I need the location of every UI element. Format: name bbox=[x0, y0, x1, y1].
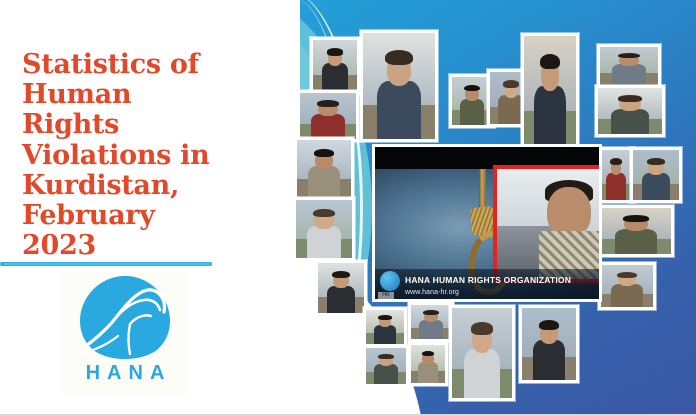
portrait-man-closeup-smile[interactable] bbox=[411, 305, 451, 339]
watermark-organization-name: HANA HUMAN RIGHTS ORGANIZATION bbox=[405, 275, 571, 285]
photo-person-hair bbox=[423, 310, 438, 315]
inset-person-face bbox=[547, 187, 591, 238]
portrait-man-headscarf[interactable] bbox=[366, 310, 404, 344]
photo-person-torso bbox=[374, 325, 397, 344]
photo-person-hair bbox=[317, 100, 338, 106]
portrait-man-scarf[interactable] bbox=[318, 263, 364, 313]
photo-person-hair bbox=[471, 322, 494, 335]
poster-canvas: HR HANA HUMAN RIGHTS ORGANIZATION www.ha… bbox=[0, 0, 696, 416]
portrait-man-pink-bg[interactable] bbox=[452, 77, 492, 125]
photo-person-torso bbox=[642, 173, 670, 201]
portrait-young-man[interactable] bbox=[411, 345, 445, 383]
photo-person-torso bbox=[611, 109, 649, 134]
photo-person-torso bbox=[460, 99, 484, 125]
photo-person-hair bbox=[618, 53, 640, 58]
globe-icon bbox=[380, 271, 400, 291]
photo-person-torso bbox=[534, 86, 565, 147]
photo-person-hair bbox=[378, 354, 393, 359]
portrait-man-blue-cap[interactable] bbox=[313, 40, 357, 92]
portrait-man-traditional-1[interactable] bbox=[600, 150, 632, 200]
photo-person-hair bbox=[539, 320, 560, 330]
photo-person-torso bbox=[615, 229, 657, 254]
photo-person-torso bbox=[374, 364, 398, 384]
photo-person-hair bbox=[378, 315, 392, 320]
photo-person-hair bbox=[617, 272, 637, 278]
photo-person-torso bbox=[311, 114, 345, 139]
photo-person-hair bbox=[610, 158, 622, 165]
photo-person-hair bbox=[647, 158, 664, 165]
photo-person-torso bbox=[606, 173, 625, 201]
photo-person-hair bbox=[503, 80, 519, 87]
victim-portrait-inset[interactable] bbox=[493, 165, 599, 283]
portrait-man-moustache[interactable] bbox=[300, 93, 356, 139]
photo-person-hair bbox=[327, 48, 344, 55]
hana-logo[interactable]: HANA bbox=[62, 272, 188, 394]
portrait-man-grey-suit[interactable] bbox=[297, 140, 351, 198]
portrait-snow-mountain[interactable] bbox=[522, 308, 576, 380]
portrait-man-red-shirt[interactable] bbox=[296, 200, 352, 258]
photo-person-torso bbox=[377, 81, 420, 139]
photo-person-torso bbox=[533, 340, 565, 380]
photo-person-torso bbox=[418, 362, 438, 383]
title-underline-rule bbox=[0, 262, 212, 266]
photo-person-torso bbox=[327, 286, 355, 314]
portrait-two-men-indoor[interactable] bbox=[600, 47, 658, 85]
photo-person-hair bbox=[618, 95, 642, 101]
photo-person-hair bbox=[464, 85, 479, 92]
portrait-two-men-hillside[interactable] bbox=[601, 208, 671, 254]
hana-dove-logo-icon bbox=[78, 274, 172, 362]
portrait-elder-man-standing[interactable] bbox=[452, 308, 512, 398]
photo-person-torso bbox=[612, 64, 647, 85]
photo-person-torso bbox=[322, 63, 348, 92]
title-panel: Statistics ofHumanRightsViolations inKur… bbox=[0, 0, 300, 416]
hana-wordmark: HANA bbox=[62, 362, 188, 385]
photo-person-hair bbox=[314, 149, 335, 157]
photo-person-torso bbox=[611, 284, 642, 307]
photo-person-torso bbox=[307, 226, 341, 258]
photo-person-torso bbox=[498, 95, 523, 124]
photo-person-torso bbox=[464, 349, 500, 399]
portrait-man-standing-field[interactable] bbox=[524, 36, 576, 146]
photo-person-hair bbox=[623, 215, 650, 221]
noose-execution-photo[interactable]: HR HANA HUMAN RIGHTS ORGANIZATION www.ha… bbox=[375, 147, 599, 299]
photo-person-hair bbox=[332, 271, 349, 278]
portrait-man-black-white[interactable] bbox=[363, 33, 435, 139]
portrait-man-outdoor-rocks[interactable] bbox=[598, 88, 662, 134]
photo-person-hair bbox=[313, 209, 334, 217]
portrait-noose-and-youth[interactable] bbox=[601, 265, 653, 307]
watermark-url: www.hana-hr.org bbox=[405, 289, 459, 296]
portrait-man-mountain-view[interactable] bbox=[366, 348, 406, 384]
photo-person-torso bbox=[308, 166, 340, 198]
photo-person-hair bbox=[540, 54, 560, 69]
page-title: Statistics ofHumanRightsViolations inKur… bbox=[22, 50, 272, 262]
watermark-chip: HR bbox=[378, 292, 394, 299]
watermark-bar: HR HANA HUMAN RIGHTS ORGANIZATION www.ha… bbox=[375, 269, 599, 299]
photo-person-hair bbox=[385, 50, 412, 65]
portrait-man-traditional-2[interactable] bbox=[633, 150, 679, 200]
photo-person-torso bbox=[419, 320, 443, 339]
